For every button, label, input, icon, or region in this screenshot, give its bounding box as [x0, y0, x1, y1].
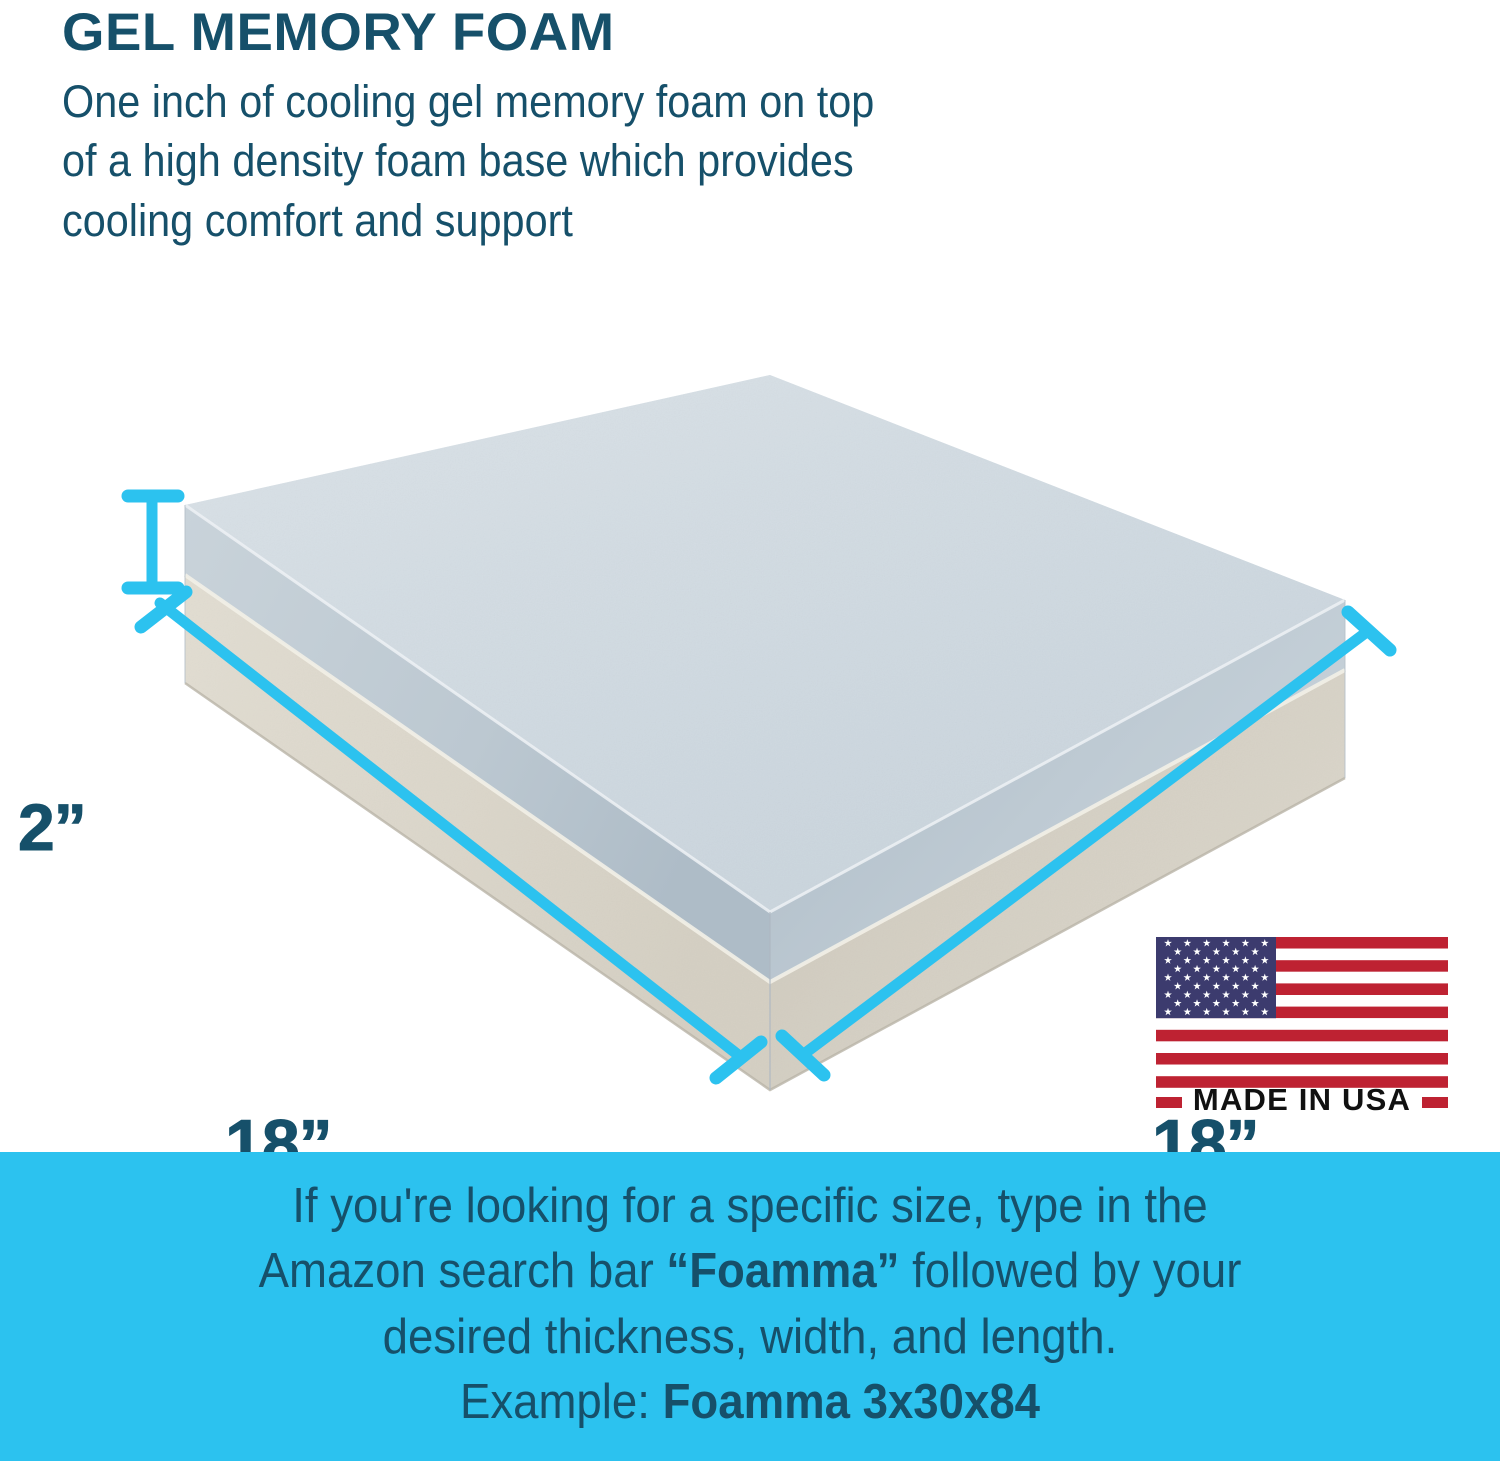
thickness-label: 2”: [18, 794, 86, 860]
made-in-usa-row: MADE IN USA: [1156, 1082, 1448, 1117]
description-line-3: cooling comfort and support: [62, 191, 1037, 250]
usa-flag-icon: MADE IN USA: [1152, 925, 1452, 1125]
usa-flag: [1156, 937, 1448, 1088]
example-label: Example:: [460, 1375, 663, 1429]
banner-line-4: Example: Foamma 3x30x84: [90, 1370, 1411, 1435]
description-line-2: of a high density foam base which provid…: [62, 131, 1037, 190]
banner-line-2: Amazon search bar “Foamma” followed by y…: [90, 1239, 1411, 1304]
search-instructions-banner: If you're looking for a specific size, t…: [0, 1152, 1500, 1461]
page-title: GEL MEMORY FOAM: [62, 6, 1154, 60]
brand-name-quoted: “Foamma”: [666, 1244, 899, 1298]
banner-line-1: If you're looking for a specific size, t…: [90, 1174, 1411, 1239]
description-line-1: One inch of cooling gel memory foam on t…: [62, 72, 1037, 131]
example-query: Foamma 3x30x84: [663, 1375, 1040, 1429]
made-in-usa-badge: MADE IN USA: [1152, 925, 1452, 1125]
banner-text: If you're looking for a specific size, t…: [90, 1174, 1411, 1435]
banner-line-2-a: Amazon search bar: [259, 1244, 667, 1298]
thickness-dimension-line: [128, 496, 178, 588]
header-block: GEL MEMORY FOAM One inch of cooling gel …: [62, 6, 1122, 250]
made-in-usa-text: MADE IN USA: [1193, 1082, 1411, 1117]
banner-line-2-b: followed by your: [899, 1244, 1241, 1298]
gel-memory-foam-layer: [185, 375, 1345, 982]
product-infographic: GEL MEMORY FOAM One inch of cooling gel …: [0, 0, 1500, 1461]
banner-line-3: desired thickness, width, and length.: [90, 1305, 1411, 1370]
product-description: One inch of cooling gel memory foam on t…: [62, 72, 1037, 250]
